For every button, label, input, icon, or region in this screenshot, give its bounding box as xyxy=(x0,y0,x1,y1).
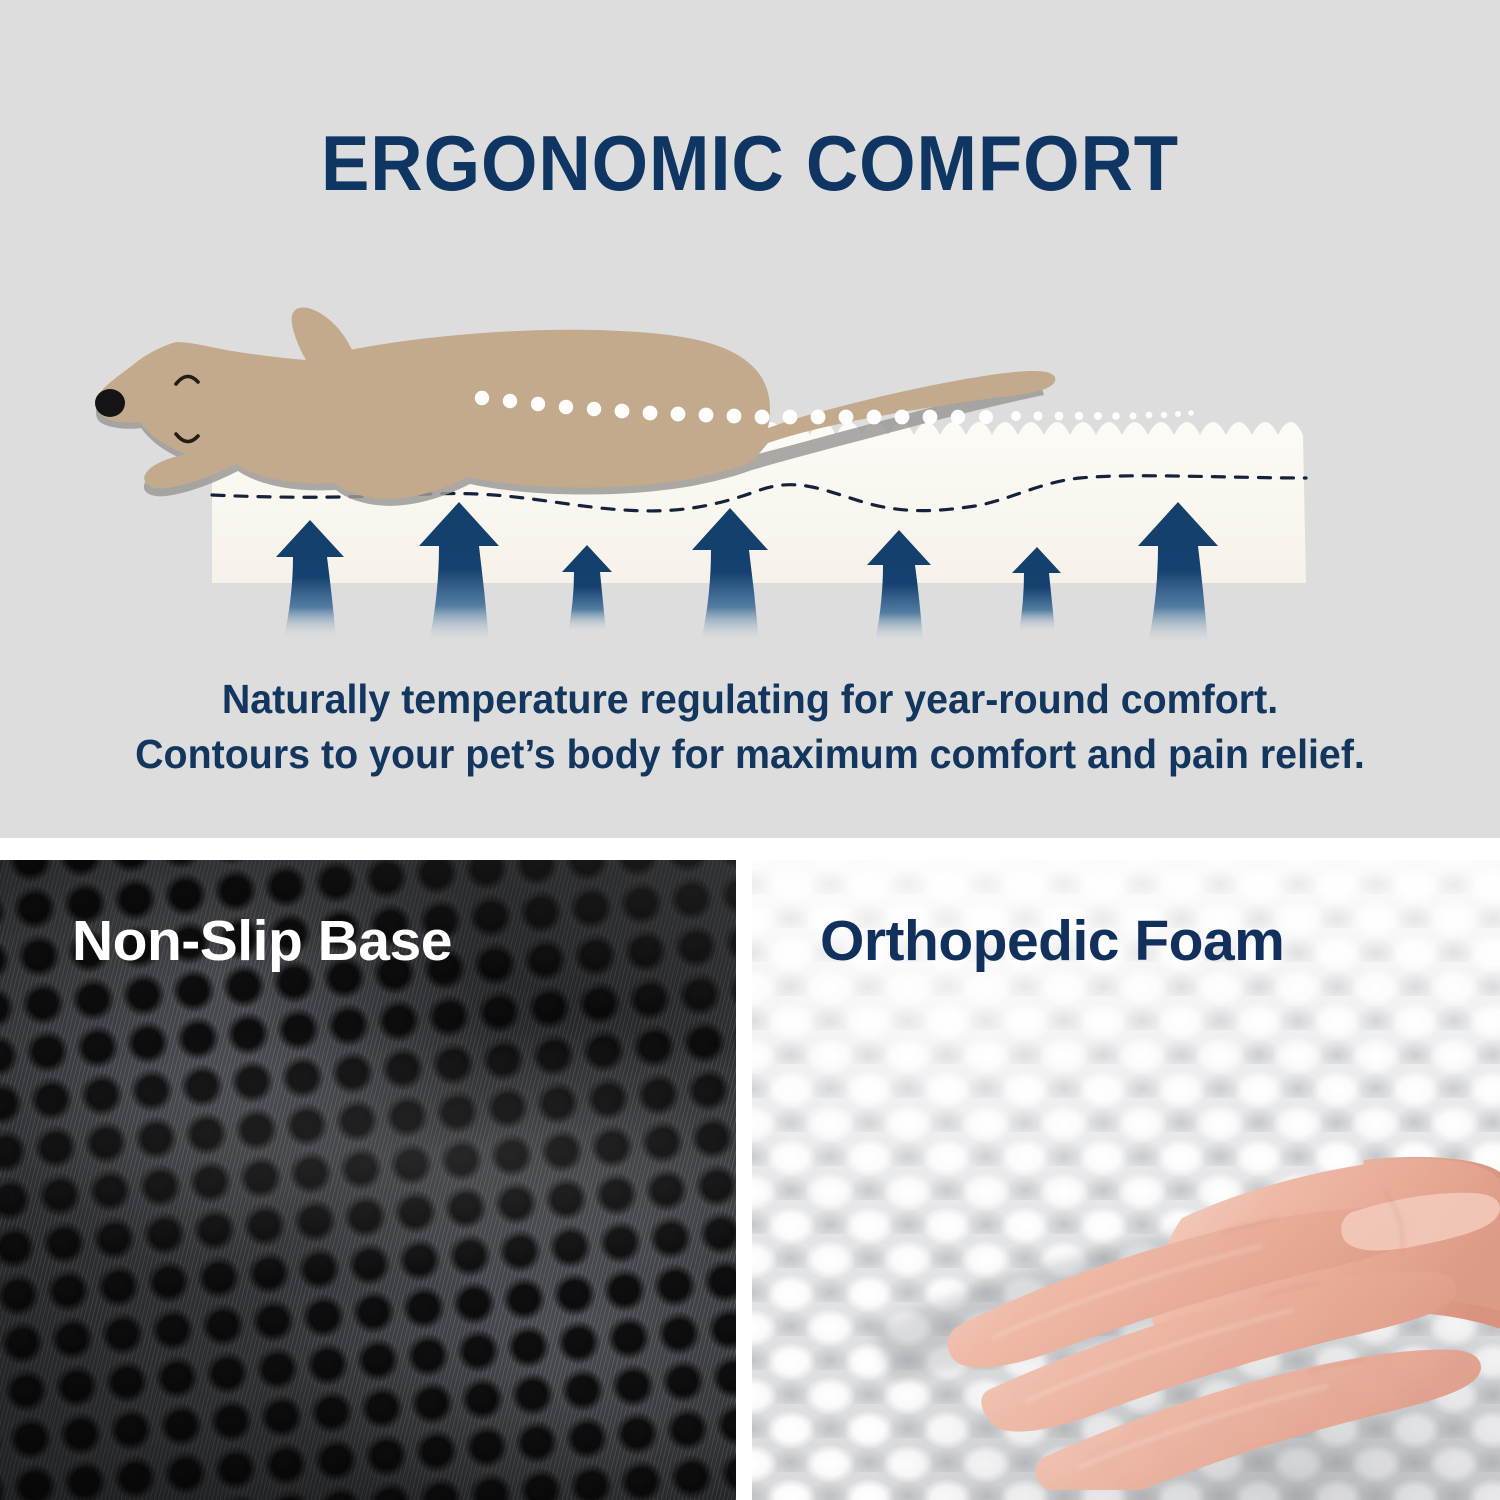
page-title: ERGONOMIC COMFORT xyxy=(53,118,1448,209)
feature-photo-row: Non-Slip Base xyxy=(0,860,1500,1500)
non-slip-base-caption: Non-Slip Base xyxy=(72,908,452,974)
feature-description-line-2: Contours to your pet’s body for maximum … xyxy=(30,727,1470,782)
feature-description: Naturally temperature regulating for yea… xyxy=(30,672,1470,782)
orthopedic-foam-caption: Orthopedic Foam xyxy=(820,908,1284,974)
orthopedic-foam-panel: Orthopedic Foam xyxy=(752,860,1500,1500)
ergonomic-comfort-panel: ERGONOMIC COMFORT xyxy=(0,0,1500,838)
non-slip-base-panel: Non-Slip Base xyxy=(0,860,736,1500)
feature-description-line-1: Naturally temperature regulating for yea… xyxy=(30,672,1470,727)
ergonomic-illustration xyxy=(0,250,1500,650)
infographic-page: ERGONOMIC COMFORT xyxy=(0,0,1500,1500)
dog-nose-icon xyxy=(95,389,125,417)
